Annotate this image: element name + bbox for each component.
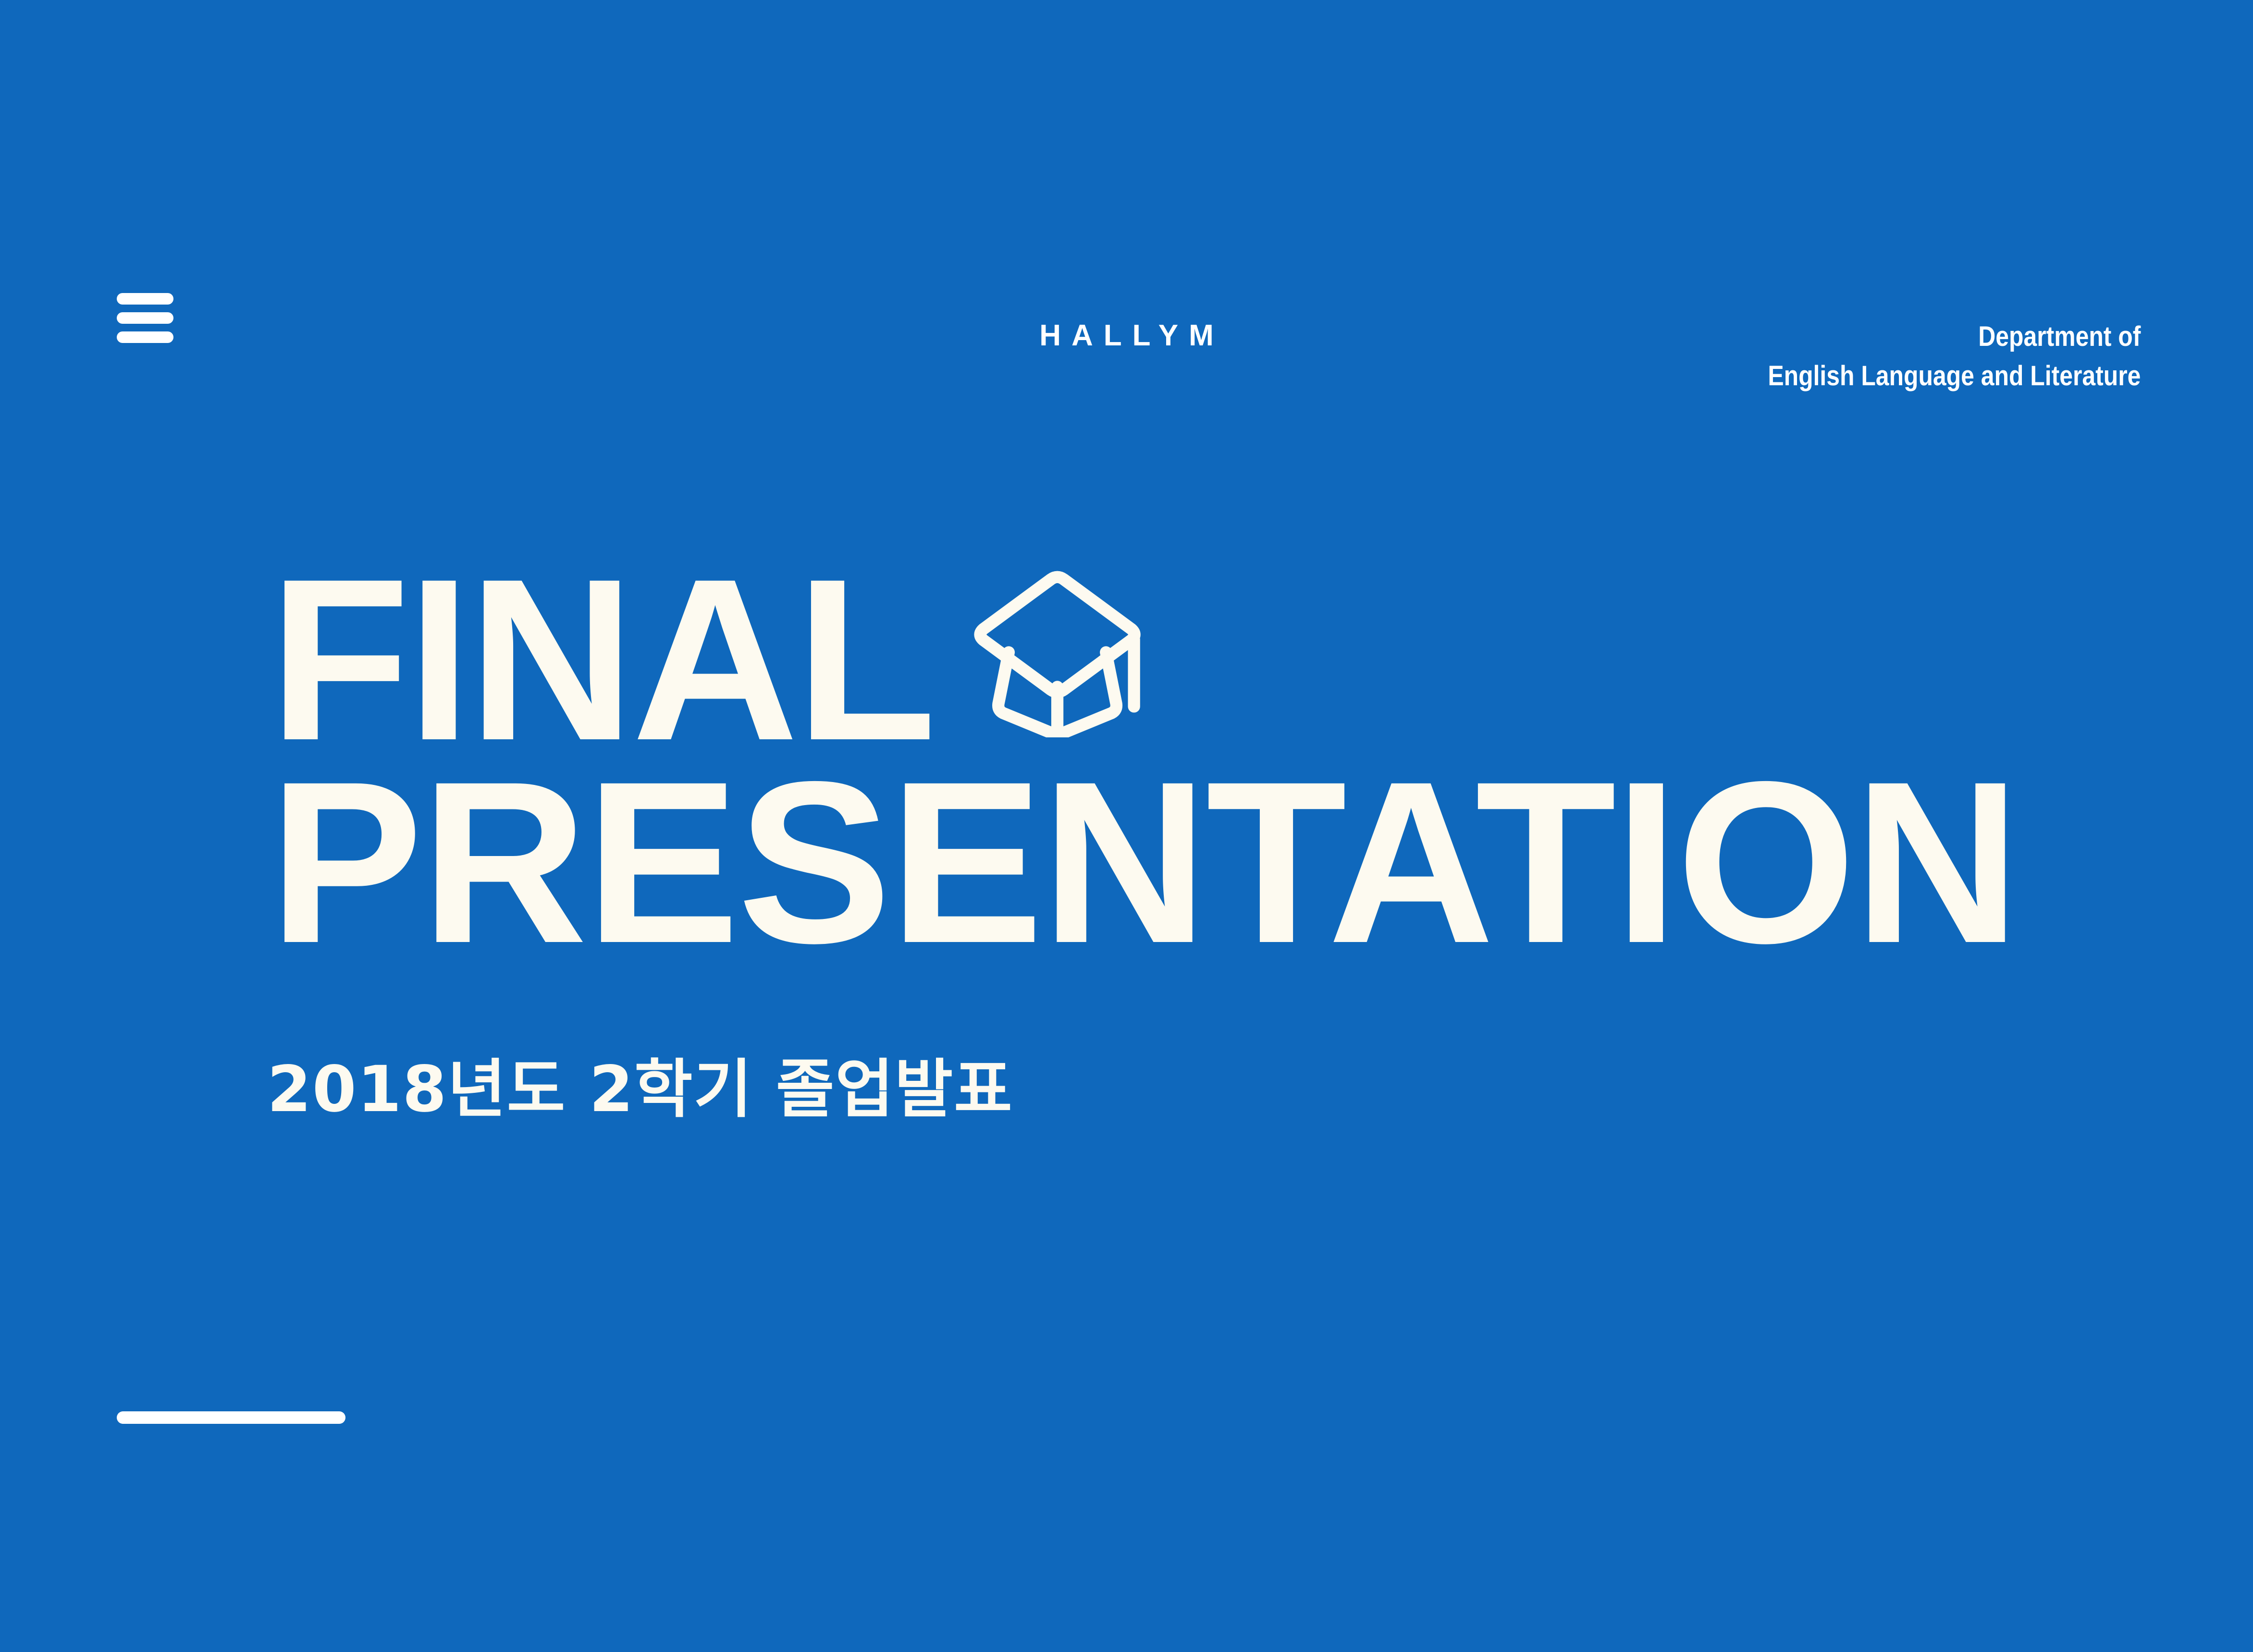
department-line-1: Department of: [1768, 317, 2141, 356]
presentation-title-slide: HALLYM Department of English Language an…: [0, 0, 2253, 1652]
title-word-presentation: PRESENTATION: [269, 755, 2019, 969]
title-row-presentation: PRESENTATION: [269, 755, 2047, 969]
bottom-rule: [117, 1411, 345, 1424]
title-subtitle: 2018년도 2학기 졸업발표: [267, 1058, 1013, 1121]
department-line-2: English Language and Literature: [1768, 356, 2141, 396]
graduation-cap-icon: [963, 564, 1153, 737]
department-block: Department of English Language and Liter…: [1768, 317, 2141, 396]
title-block: FINAL PRESENTATION: [269, 552, 2047, 970]
hamburger-bar-1: [117, 293, 173, 305]
